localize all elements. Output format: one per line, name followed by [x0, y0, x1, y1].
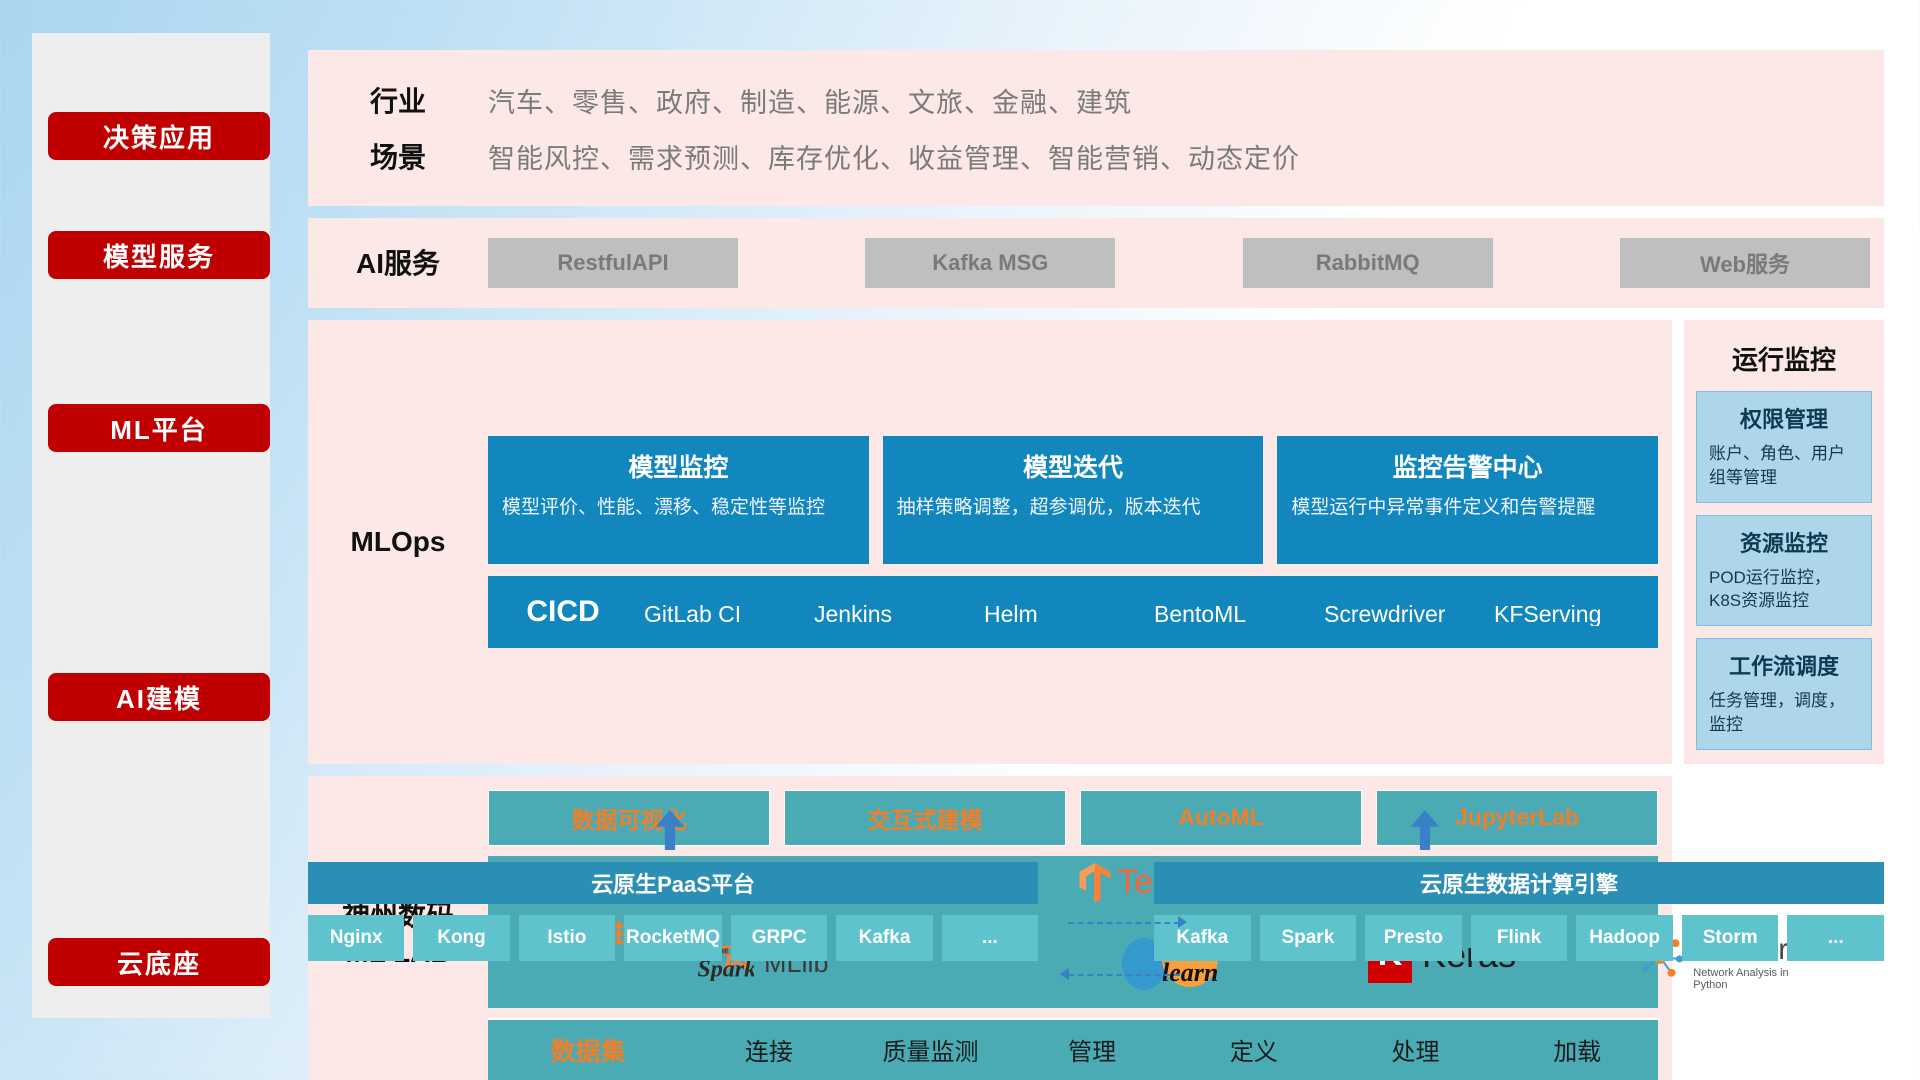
service-chip-web-service[interactable]: Web服务: [1620, 238, 1870, 288]
application-rows: 行业 汽车、零售、政府、制造、能源、文旅、金融、建筑 场景 智能风控、需求预测、…: [308, 72, 1884, 184]
application-row-industry: 行业 汽车、零售、政府、制造、能源、文旅、金融、建筑: [308, 72, 1884, 128]
mlops-card-desc: 模型评价、性能、漂移、稳定性等监控: [502, 494, 855, 522]
mlops-body: 模型监控 模型评价、性能、漂移、稳定性等监控 模型迭代 抽样策略调整，超参调优，…: [488, 436, 1672, 648]
mlops-band: MLOps 模型监控 模型评价、性能、漂移、稳定性等监控 模型迭代 抽样策略调整…: [308, 320, 1672, 764]
mlops-card-title: 监控告警中心: [1291, 448, 1644, 484]
monitor-card-permissions[interactable]: 权限管理 账户、角色、用户组等管理: [1696, 391, 1872, 503]
stage-label-text: 云底座: [117, 944, 201, 981]
mlops-card-desc: 模型运行中异常事件定义和告警提醒: [1291, 494, 1644, 522]
scenario-key: 场景: [308, 136, 488, 176]
monitor-card-resources[interactable]: 资源监控 POD运行监控，K8S资源监控: [1696, 515, 1872, 627]
mlops-card-title: 模型监控: [502, 448, 855, 484]
cloud-group-data-engine: 云原生数据计算引擎 Kafka Spark Presto Flink Hadoo…: [1154, 862, 1884, 961]
stage-label-text: AI建模: [116, 679, 202, 716]
monitor-card-title: 资源监控: [1709, 526, 1859, 558]
cloud-chip-nginx[interactable]: Nginx: [308, 915, 404, 961]
tab-jupyterlab[interactable]: JupyterLab: [1376, 790, 1658, 846]
stage-label-model-service[interactable]: 模型服务: [48, 231, 270, 279]
dataset-item-load[interactable]: 加载: [1496, 1032, 1658, 1067]
mlops-card-desc: 抽样策略调整，超参调优，版本迭代: [897, 494, 1250, 522]
service-chip-kafka-msg[interactable]: Kafka MSG: [865, 238, 1115, 288]
cicd-item-gitlab-ci[interactable]: GitLab CI: [638, 603, 808, 626]
cicd-item-list: GitLab CI Jenkins Helm BentoML Screwdriv…: [638, 597, 1658, 626]
cicd-title: CICD: [488, 595, 638, 629]
cloud-group-paas: 云原生PaaS平台 Nginx Kong Istio RocketMQ GRPC…: [308, 862, 1038, 961]
stage-label-text: ML平台: [110, 410, 208, 447]
connector-dashed-right: [1068, 922, 1180, 924]
monitor-card-desc: 账户、角色、用户组等管理: [1709, 442, 1859, 490]
monitor-card-desc: 任务管理，调度，监控: [1709, 689, 1859, 737]
runtime-monitoring-title: 运行监控: [1696, 332, 1872, 391]
cloud-chip-spark[interactable]: Spark: [1260, 915, 1357, 961]
cloud-chip-grpc[interactable]: GRPC: [731, 915, 827, 961]
runtime-monitoring-column: 运行监控 权限管理 账户、角色、用户组等管理 资源监控 POD运行监控，K8S资…: [1684, 320, 1884, 764]
svg-text:learn: learn: [1162, 958, 1218, 987]
dataset-item-process[interactable]: 处理: [1335, 1032, 1497, 1067]
cloud-chip-more-paas[interactable]: ...: [942, 915, 1038, 961]
cloud-chip-hadoop[interactable]: Hadoop: [1576, 915, 1673, 961]
cloud-chip-rocketmq[interactable]: RocketMQ: [624, 915, 722, 961]
stage-label-text: 模型服务: [103, 237, 215, 274]
cloud-chip-row-paas: Nginx Kong Istio RocketMQ GRPC Kafka ...: [308, 915, 1038, 961]
cloud-header-paas: 云原生PaaS平台: [308, 862, 1038, 904]
cloud-chip-presto[interactable]: Presto: [1365, 915, 1462, 961]
dataset-title: 数据集: [488, 1032, 688, 1068]
cloud-chip-row-data-engine: Kafka Spark Presto Flink Hadoop Storm ..…: [1154, 915, 1884, 961]
mlops-row: MLOps 模型监控 模型评价、性能、漂移、稳定性等监控 模型迭代 抽样策略调整…: [308, 320, 1884, 764]
monitor-card-title: 权限管理: [1709, 402, 1859, 434]
connector-arrow-right-icon: [1178, 916, 1187, 928]
applications-band: 行业 汽车、零售、政府、制造、能源、文旅、金融、建筑 场景 智能风控、需求预测、…: [308, 50, 1884, 206]
cloud-chip-storm[interactable]: Storm: [1682, 915, 1779, 961]
connector-dashed-left: [1068, 974, 1180, 976]
cloud-chip-more-engine[interactable]: ...: [1787, 915, 1884, 961]
cicd-bar: CICD GitLab CI Jenkins Helm BentoML Scre…: [488, 576, 1658, 648]
dataset-item-manage[interactable]: 管理: [1011, 1032, 1173, 1067]
cicd-item-kfserving[interactable]: KFServing: [1488, 603, 1658, 626]
connector-arrow-left-icon: [1060, 968, 1069, 980]
application-row-scenario: 场景 智能风控、需求预测、库存优化、收益管理、智能营销、动态定价: [308, 128, 1884, 184]
stage-label-cloud-base[interactable]: 云底座: [48, 938, 270, 986]
cloud-chip-kong[interactable]: Kong: [413, 915, 509, 961]
cicd-item-bentoml[interactable]: BentoML: [1148, 603, 1318, 626]
industry-value: 汽车、零售、政府、制造、能源、文旅、金融、建筑: [488, 81, 1132, 120]
cicd-item-helm[interactable]: Helm: [978, 603, 1148, 626]
stage-label-ml-platform[interactable]: ML平台: [48, 404, 270, 452]
ai-service-chip-row: RestfulAPI Kafka MSG RabbitMQ Web服务: [488, 238, 1884, 288]
tab-automl[interactable]: AutoML: [1080, 790, 1362, 846]
diagram-canvas: 决策应用 模型服务 ML平台 AI建模 云底座 行业 汽车、零售、政府、制造、能…: [0, 0, 1920, 1080]
mlops-card-model-iteration[interactable]: 模型迭代 抽样策略调整，超参调优，版本迭代: [883, 436, 1264, 564]
service-chip-rabbitmq[interactable]: RabbitMQ: [1243, 238, 1493, 288]
stage-label-decision-apps[interactable]: 决策应用: [48, 112, 270, 160]
dataset-item-list: 连接 质量监测 管理 定义 处理 加载: [688, 1032, 1658, 1067]
networkx-tagline: Network Analysis in Python: [1693, 967, 1824, 991]
dataset-item-define[interactable]: 定义: [1173, 1032, 1335, 1067]
mlops-card-model-monitoring[interactable]: 模型监控 模型评价、性能、漂移、稳定性等监控: [488, 436, 869, 564]
cloud-group-row: 云原生PaaS平台 Nginx Kong Istio RocketMQ GRPC…: [308, 862, 1884, 961]
mlops-card-title: 模型迭代: [897, 448, 1250, 484]
tab-interactive-modeling[interactable]: 交互式建模: [784, 790, 1066, 846]
cloud-chip-flink[interactable]: Flink: [1471, 915, 1568, 961]
dataset-item-quality-monitor[interactable]: 质量监测: [850, 1032, 1012, 1067]
industry-key: 行业: [308, 80, 488, 120]
ai-service-band: AI服务 RestfulAPI Kafka MSG RabbitMQ Web服务: [308, 218, 1884, 308]
mlops-card-list: 模型监控 模型评价、性能、漂移、稳定性等监控 模型迭代 抽样策略调整，超参调优，…: [488, 436, 1658, 564]
mlops-card-alert-center[interactable]: 监控告警中心 模型运行中异常事件定义和告警提醒: [1277, 436, 1658, 564]
cloud-base-layer: 云原生PaaS平台 Nginx Kong Istio RocketMQ GRPC…: [308, 862, 1884, 961]
mlops-label: MLOps: [308, 524, 488, 559]
cloud-chip-kafka[interactable]: Kafka: [836, 915, 932, 961]
monitor-card-desc: POD运行监控，K8S资源监控: [1709, 566, 1859, 614]
dataset-item-connect[interactable]: 连接: [688, 1032, 850, 1067]
tab-data-visualization[interactable]: 数据可视化: [488, 790, 770, 846]
scenario-value: 智能风控、需求预测、库存优化、收益管理、智能营销、动态定价: [488, 137, 1300, 176]
stage-column: [32, 33, 270, 1018]
dataset-bar: 数据集 连接 质量监测 管理 定义 处理 加载: [488, 1018, 1658, 1080]
cloud-chip-istio[interactable]: Istio: [519, 915, 615, 961]
stage-label-text: 决策应用: [103, 118, 215, 155]
cloud-header-data-engine: 云原生数据计算引擎: [1154, 862, 1884, 904]
ai-service-label: AI服务: [308, 246, 488, 281]
stage-label-ai-modeling[interactable]: AI建模: [48, 673, 270, 721]
monitor-card-title: 工作流调度: [1709, 649, 1859, 681]
monitor-card-workflow[interactable]: 工作流调度 任务管理，调度，监控: [1696, 638, 1872, 750]
service-chip-restfulapi[interactable]: RestfulAPI: [488, 238, 738, 288]
cicd-item-screwdriver[interactable]: Screwdriver: [1318, 603, 1488, 626]
cicd-item-jenkins[interactable]: Jenkins: [808, 603, 978, 626]
